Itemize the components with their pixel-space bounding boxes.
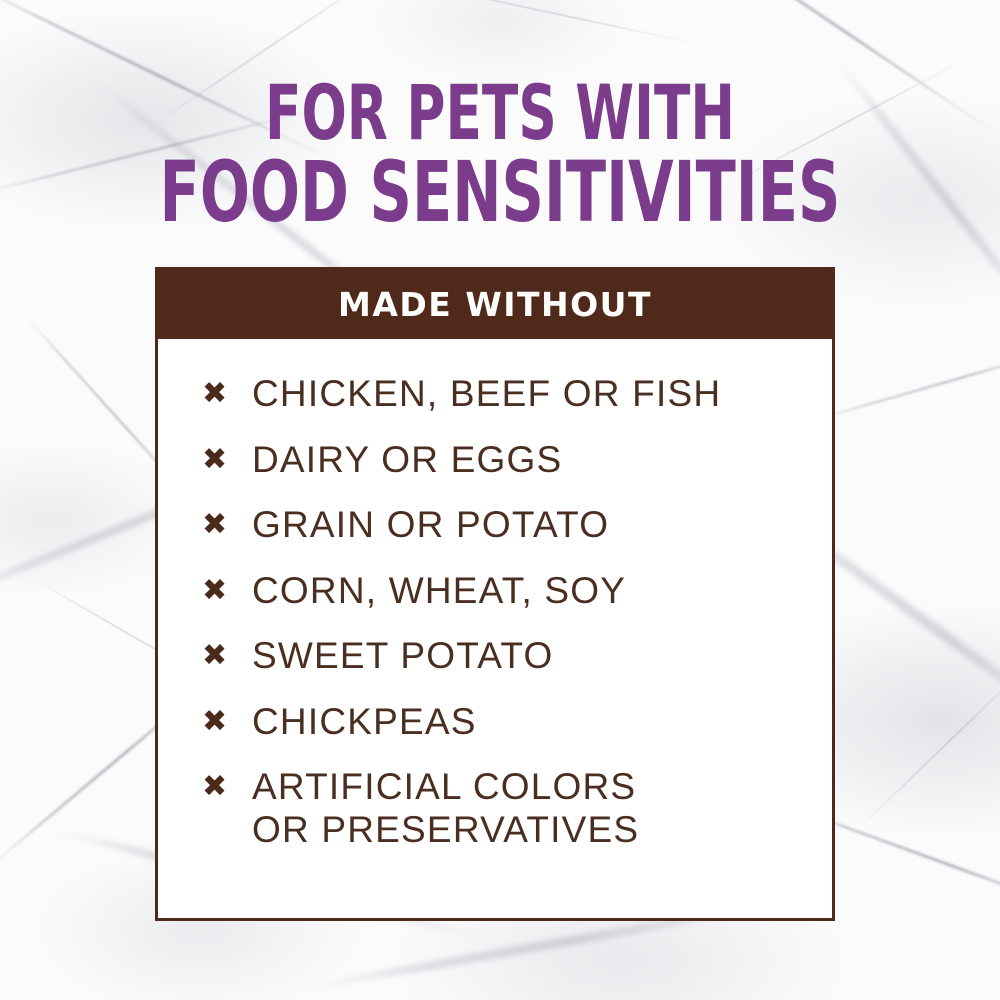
list-item: ✖ CORN, WHEAT, SOY [202,570,802,613]
x-mark-icon: ✖ [202,510,232,540]
x-mark-icon: ✖ [202,576,232,606]
x-mark-icon: ✖ [202,379,232,409]
x-mark-icon: ✖ [202,772,232,802]
exclusion-list: ✖ CHICKEN, BEEF OR FISH ✖ DAIRY OR EGGS … [202,373,802,851]
list-item-label: DAIRY OR EGGS [252,439,802,482]
x-mark-icon: ✖ [202,641,232,671]
x-mark-icon: ✖ [202,445,232,475]
card-header-title: MADE WITHOUT [338,288,652,321]
list-item: ✖ ARTIFICIAL COLORS OR PRESERVATIVES [202,766,802,851]
product-feature-panel: FOR PETS WITH FOOD SENSITIVITIES MADE WI… [0,0,1000,1000]
list-item: ✖ CHICKEN, BEEF OR FISH [202,373,802,416]
list-item-label: ARTIFICIAL COLORS OR PRESERVATIVES [252,766,802,851]
headline-line-1: FOR PETS WITH [110,78,890,148]
list-item: ✖ SWEET POTATO [202,635,802,678]
list-item-label: CORN, WHEAT, SOY [252,570,802,613]
list-item-label: CHICKEN, BEEF OR FISH [252,373,802,416]
list-item: ✖ GRAIN OR POTATO [202,504,802,547]
list-item: ✖ DAIRY OR EGGS [202,439,802,482]
headline: FOR PETS WITH FOOD SENSITIVITIES [0,78,1000,231]
headline-line-2: FOOD SENSITIVITIES [110,154,890,231]
card-header-bar: MADE WITHOUT [158,270,832,339]
x-mark-icon: ✖ [202,707,232,737]
list-item-label: GRAIN OR POTATO [252,504,802,547]
list-item-label: CHICKPEAS [252,701,802,744]
made-without-card: MADE WITHOUT ✖ CHICKEN, BEEF OR FISH ✖ D… [155,267,835,921]
list-item-label: SWEET POTATO [252,635,802,678]
card-body: ✖ CHICKEN, BEEF OR FISH ✖ DAIRY OR EGGS … [158,339,832,918]
list-item: ✖ CHICKPEAS [202,701,802,744]
